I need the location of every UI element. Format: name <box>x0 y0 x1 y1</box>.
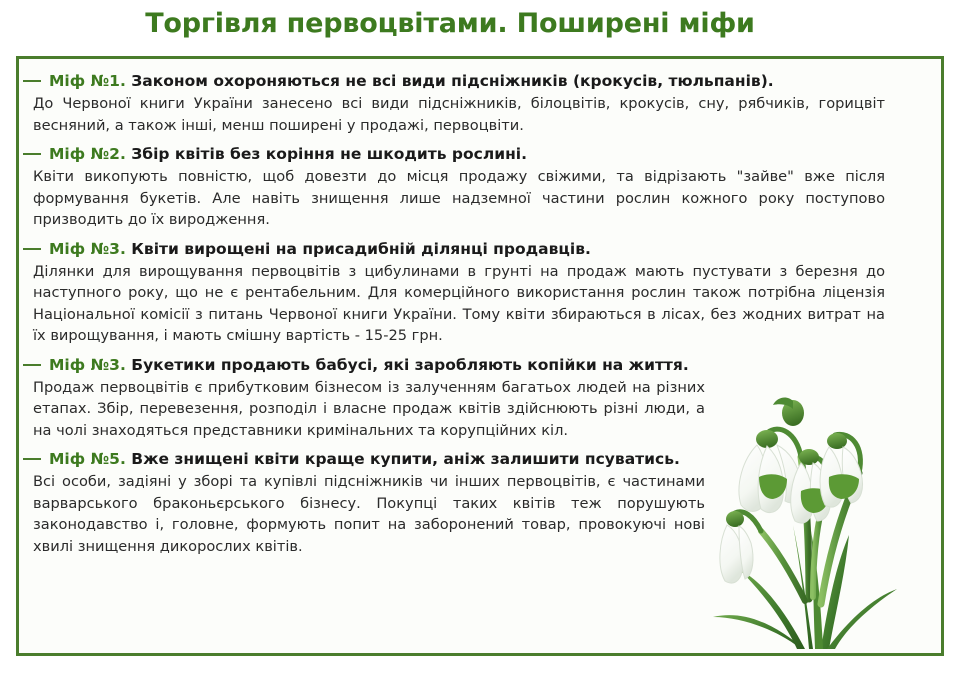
myth-item: Міф №1. Законом охороняються не всі види… <box>33 71 881 136</box>
dash-marker-icon <box>23 248 41 250</box>
myth-item: Міф №3. Квіти вирощені на присадибній ді… <box>33 239 881 347</box>
myth-item: Міф №2. Збір квітів без коріння не шкоди… <box>33 144 881 231</box>
infographic-poster: Торгівля первоцвітами. Поширені міфи Міф… <box>0 0 960 676</box>
myth-item: Міф №3. Букетики продають бабусі, які за… <box>33 355 881 442</box>
myth-number: Міф №5. <box>49 450 126 468</box>
myth-heading: Міф №3. Букетики продають бабусі, які за… <box>33 355 881 375</box>
myth-body: Квіти викопують повністю, щоб довезти до… <box>33 166 885 231</box>
dash-marker-icon <box>23 364 41 366</box>
myth-body: Ділянки для вирощування первоцвітів з ци… <box>33 261 885 347</box>
dash-marker-icon <box>23 80 41 82</box>
myths-list: Міф №1. Законом охороняються не всі види… <box>19 59 887 653</box>
myth-heading: Міф №2. Збір квітів без коріння не шкоди… <box>33 144 881 164</box>
sidebar-slogan: Збережи весну! Дізнайся більше на pryrod… <box>884 62 938 656</box>
myth-claim: Вже знищені квіти краще купити, аніж зал… <box>131 450 680 468</box>
myth-body: Продаж первоцвітів є прибутковим бізнесо… <box>33 377 705 442</box>
myth-number: Міф №1. <box>49 72 126 90</box>
myth-body: Всі особи, задіяні у зборі та купівлі пі… <box>33 471 705 557</box>
myth-number: Міф №2. <box>49 145 126 163</box>
myth-item: Міф №5. Вже знищені квіти краще купити, … <box>33 449 881 557</box>
sidebar-slogan-text: Збережи весну! Дізнайся більше на pryrod… <box>934 62 938 76</box>
myth-claim: Букетики продають бабусі, які заробляють… <box>131 356 689 374</box>
dash-marker-icon <box>23 153 41 155</box>
myth-claim: Збір квітів без коріння не шкодить росли… <box>131 145 527 163</box>
myth-heading: Міф №3. Квіти вирощені на присадибній ді… <box>33 239 881 259</box>
myth-number: Міф №3. <box>49 240 126 258</box>
myth-body: До Червоної книги України занесено всі в… <box>33 93 885 136</box>
myth-heading: Міф №1. Законом охороняються не всі види… <box>33 71 881 91</box>
dash-marker-icon <box>23 458 41 460</box>
myth-number: Міф №3. <box>49 356 126 374</box>
myth-claim: Законом охороняються не всі види підсніж… <box>131 72 773 90</box>
content-frame: Міф №1. Законом охороняються не всі види… <box>16 56 944 656</box>
page-title: Торгівля первоцвітами. Поширені міфи <box>0 8 900 39</box>
myth-claim: Квіти вирощені на присадибній ділянці пр… <box>131 240 591 258</box>
myth-heading: Міф №5. Вже знищені квіти краще купити, … <box>33 449 881 469</box>
